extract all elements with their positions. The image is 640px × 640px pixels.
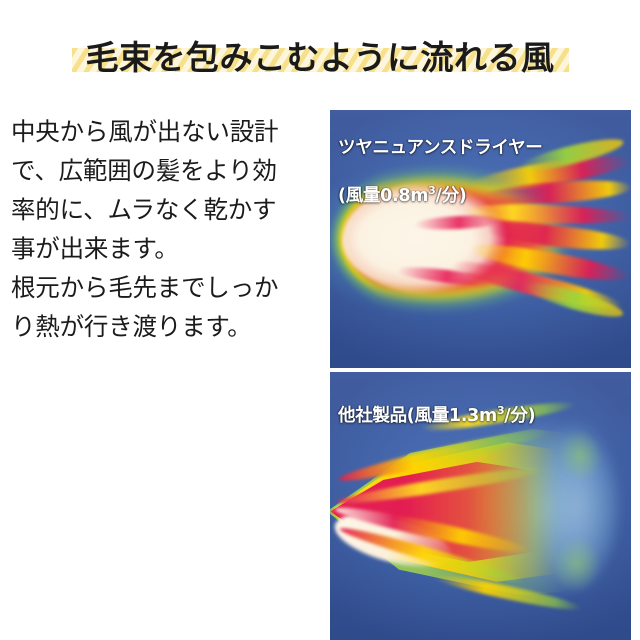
- caption-airflow-pre: 他社製品(風量1.3m: [338, 406, 497, 426]
- thermal-panel-competitor-product: 他社製品(風量1.3m3/分): [330, 372, 631, 640]
- thermal-comparison: ツヤニュアンスドライヤー (風量0.8m3/分): [330, 110, 631, 640]
- caption-airflow-post: /分): [504, 406, 535, 426]
- caption-airflow-post: /分): [436, 186, 467, 206]
- title-text: 毛束を包みこむように流れる風: [86, 41, 555, 74]
- caption-airflow-pre: (風量0.8m: [338, 186, 428, 206]
- infographic-page: 毛束を包みこむように流れる風 中央から風が出ない設計 で、広範囲の髪をより効 率…: [0, 0, 640, 640]
- caption-airflow-superscript: 3: [428, 184, 435, 197]
- panel-caption-bottom: 他社製品(風量1.3m3/分): [338, 379, 535, 427]
- thermal-panel-tsuya-nuance-dryer: ツヤニュアンスドライヤー (風量0.8m3/分): [330, 110, 631, 368]
- body-copy: 中央から風が出ない設計 で、広範囲の髪をより効 率的に、ムラなく乾かす 事が出来…: [11, 112, 311, 346]
- caption-product-name: ツヤニュアンスドライヤー: [338, 138, 542, 158]
- title-inner: 毛束を包みこむように流れる風: [78, 41, 563, 74]
- page-title: 毛束を包みこむように流れる風: [0, 26, 640, 88]
- panel-caption-top: ツヤニュアンスドライヤー (風量0.8m3/分): [338, 117, 542, 207]
